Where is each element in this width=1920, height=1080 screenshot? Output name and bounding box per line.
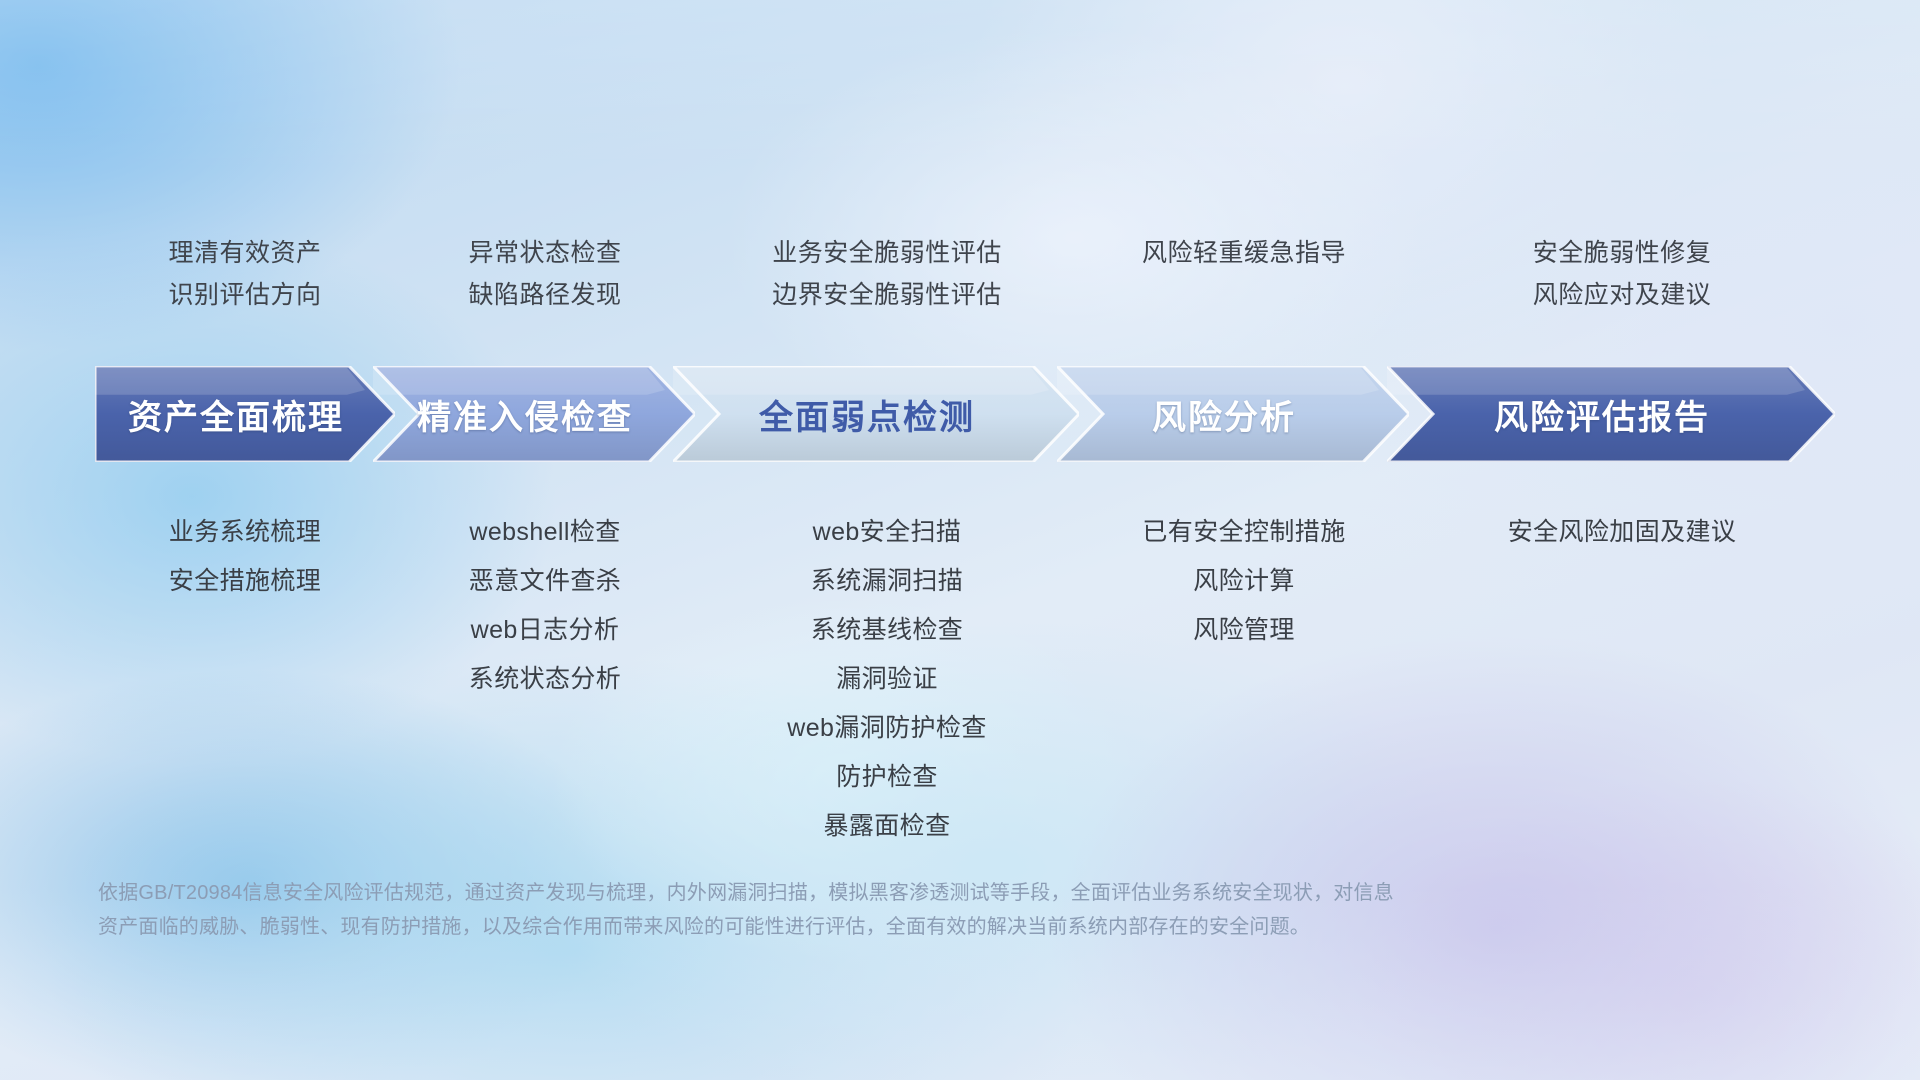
stage-asset-inventory-bottom-item: 安全措施梳理	[95, 557, 395, 606]
stage-risk-report-title: 风险评估报告	[1494, 390, 1710, 439]
slide-content: 理清有效资产识别评估方向异常状态检查缺陷路径发现业务安全脆弱性评估边界安全脆弱性…	[0, 0, 1920, 1080]
stage-asset-inventory-top-labels: 理清有效资产识别评估方向	[95, 232, 395, 316]
stage-intrusion-check-bottom-item: web日志分析	[395, 606, 695, 655]
stage-risk-analysis-bottom-item: 风险计算	[1079, 557, 1409, 606]
stage-weakness-detection-top-item: 业务安全脆弱性评估	[695, 232, 1079, 274]
stage-asset-inventory-title: 资产全面梳理	[128, 390, 344, 439]
stage-asset-inventory-top-item: 理清有效资产	[95, 232, 395, 274]
stage-intrusion-check-bottom-items: webshell检查恶意文件查杀web日志分析系统状态分析	[395, 508, 695, 704]
stage-weakness-detection-bottom-item: 防护检查	[695, 753, 1079, 802]
stage-risk-analysis-bottom-item: 已有安全控制措施	[1079, 508, 1409, 557]
stage-risk-analysis-arrow[interactable]: 风险分析	[1057, 366, 1409, 462]
stage-weakness-detection-bottom-item: web安全扫描	[695, 508, 1079, 557]
process-arrow-band: 资产全面梳理精准入侵检查全面弱点检测风险分析风险评估报告	[95, 366, 1835, 462]
stage-weakness-detection-bottom-item: 漏洞验证	[695, 655, 1079, 704]
stage-intrusion-check-bottom-item: webshell检查	[395, 508, 695, 557]
stage-intrusion-check-top-labels: 异常状态检查缺陷路径发现	[395, 232, 695, 316]
footer-description: 依据GB/T20984信息安全风险评估规范，通过资产发现与梳理，内外网漏洞扫描，…	[98, 876, 1658, 944]
stage-intrusion-check-top-item: 异常状态检查	[395, 232, 695, 274]
stage-asset-inventory-top-item: 识别评估方向	[95, 274, 395, 316]
stage-asset-inventory-bottom-items: 业务系统梳理安全措施梳理	[95, 508, 395, 606]
stage-weakness-detection-arrow[interactable]: 全面弱点检测	[673, 366, 1079, 462]
footer-line-1: 依据GB/T20984信息安全风险评估规范，通过资产发现与梳理，内外网漏洞扫描，…	[98, 876, 1658, 910]
stage-weakness-detection-bottom-items: web安全扫描系统漏洞扫描系统基线检查漏洞验证web漏洞防护检查防护检查暴露面检…	[695, 508, 1079, 851]
stage-asset-inventory-bottom-item: 业务系统梳理	[95, 508, 395, 557]
stage-weakness-detection-top-item: 边界安全脆弱性评估	[695, 274, 1079, 316]
slide-canvas: 理清有效资产识别评估方向异常状态检查缺陷路径发现业务安全脆弱性评估边界安全脆弱性…	[0, 0, 1920, 1080]
stage-weakness-detection-bottom-item: 暴露面检查	[695, 802, 1079, 851]
footer-line-2: 资产面临的威胁、脆弱性、现有防护措施，以及综合作用而带来风险的可能性进行评估，全…	[98, 910, 1658, 944]
stage-risk-analysis-bottom-items: 已有安全控制措施风险计算风险管理	[1079, 508, 1409, 655]
stage-weakness-detection-bottom-item: 系统漏洞扫描	[695, 557, 1079, 606]
stage-top-labels-row: 理清有效资产识别评估方向异常状态检查缺陷路径发现业务安全脆弱性评估边界安全脆弱性…	[95, 232, 1835, 316]
stage-intrusion-check-top-item: 缺陷路径发现	[395, 274, 695, 316]
stage-asset-inventory-arrow[interactable]: 资产全面梳理	[95, 366, 395, 462]
stage-weakness-detection-top-labels: 业务安全脆弱性评估边界安全脆弱性评估	[695, 232, 1079, 316]
stage-bottom-items-row: 业务系统梳理安全措施梳理webshell检查恶意文件查杀web日志分析系统状态分…	[95, 508, 1835, 851]
stage-intrusion-check-bottom-item: 恶意文件查杀	[395, 557, 695, 606]
stage-intrusion-check-bottom-item: 系统状态分析	[395, 655, 695, 704]
stage-risk-analysis-top-labels: 风险轻重缓急指导	[1079, 232, 1409, 316]
stage-risk-report-arrow[interactable]: 风险评估报告	[1387, 366, 1835, 462]
stage-risk-report-bottom-items: 安全风险加固及建议	[1409, 508, 1835, 557]
stage-risk-report-bottom-item: 安全风险加固及建议	[1409, 508, 1835, 557]
stage-risk-analysis-top-item: 风险轻重缓急指导	[1079, 232, 1409, 274]
stage-risk-report-top-item: 安全脆弱性修复	[1409, 232, 1835, 274]
stage-risk-analysis-bottom-item: 风险管理	[1079, 606, 1409, 655]
stage-intrusion-check-arrow[interactable]: 精准入侵检查	[373, 366, 695, 462]
stage-weakness-detection-bottom-item: web漏洞防护检查	[695, 704, 1079, 753]
stage-risk-report-top-item: 风险应对及建议	[1409, 274, 1835, 316]
stage-risk-report-top-labels: 安全脆弱性修复风险应对及建议	[1409, 232, 1835, 316]
stage-weakness-detection-bottom-item: 系统基线检查	[695, 606, 1079, 655]
stage-weakness-detection-title: 全面弱点检测	[759, 390, 975, 439]
stage-intrusion-check-title: 精准入侵检查	[417, 390, 633, 439]
stage-risk-analysis-title: 风险分析	[1152, 390, 1296, 439]
